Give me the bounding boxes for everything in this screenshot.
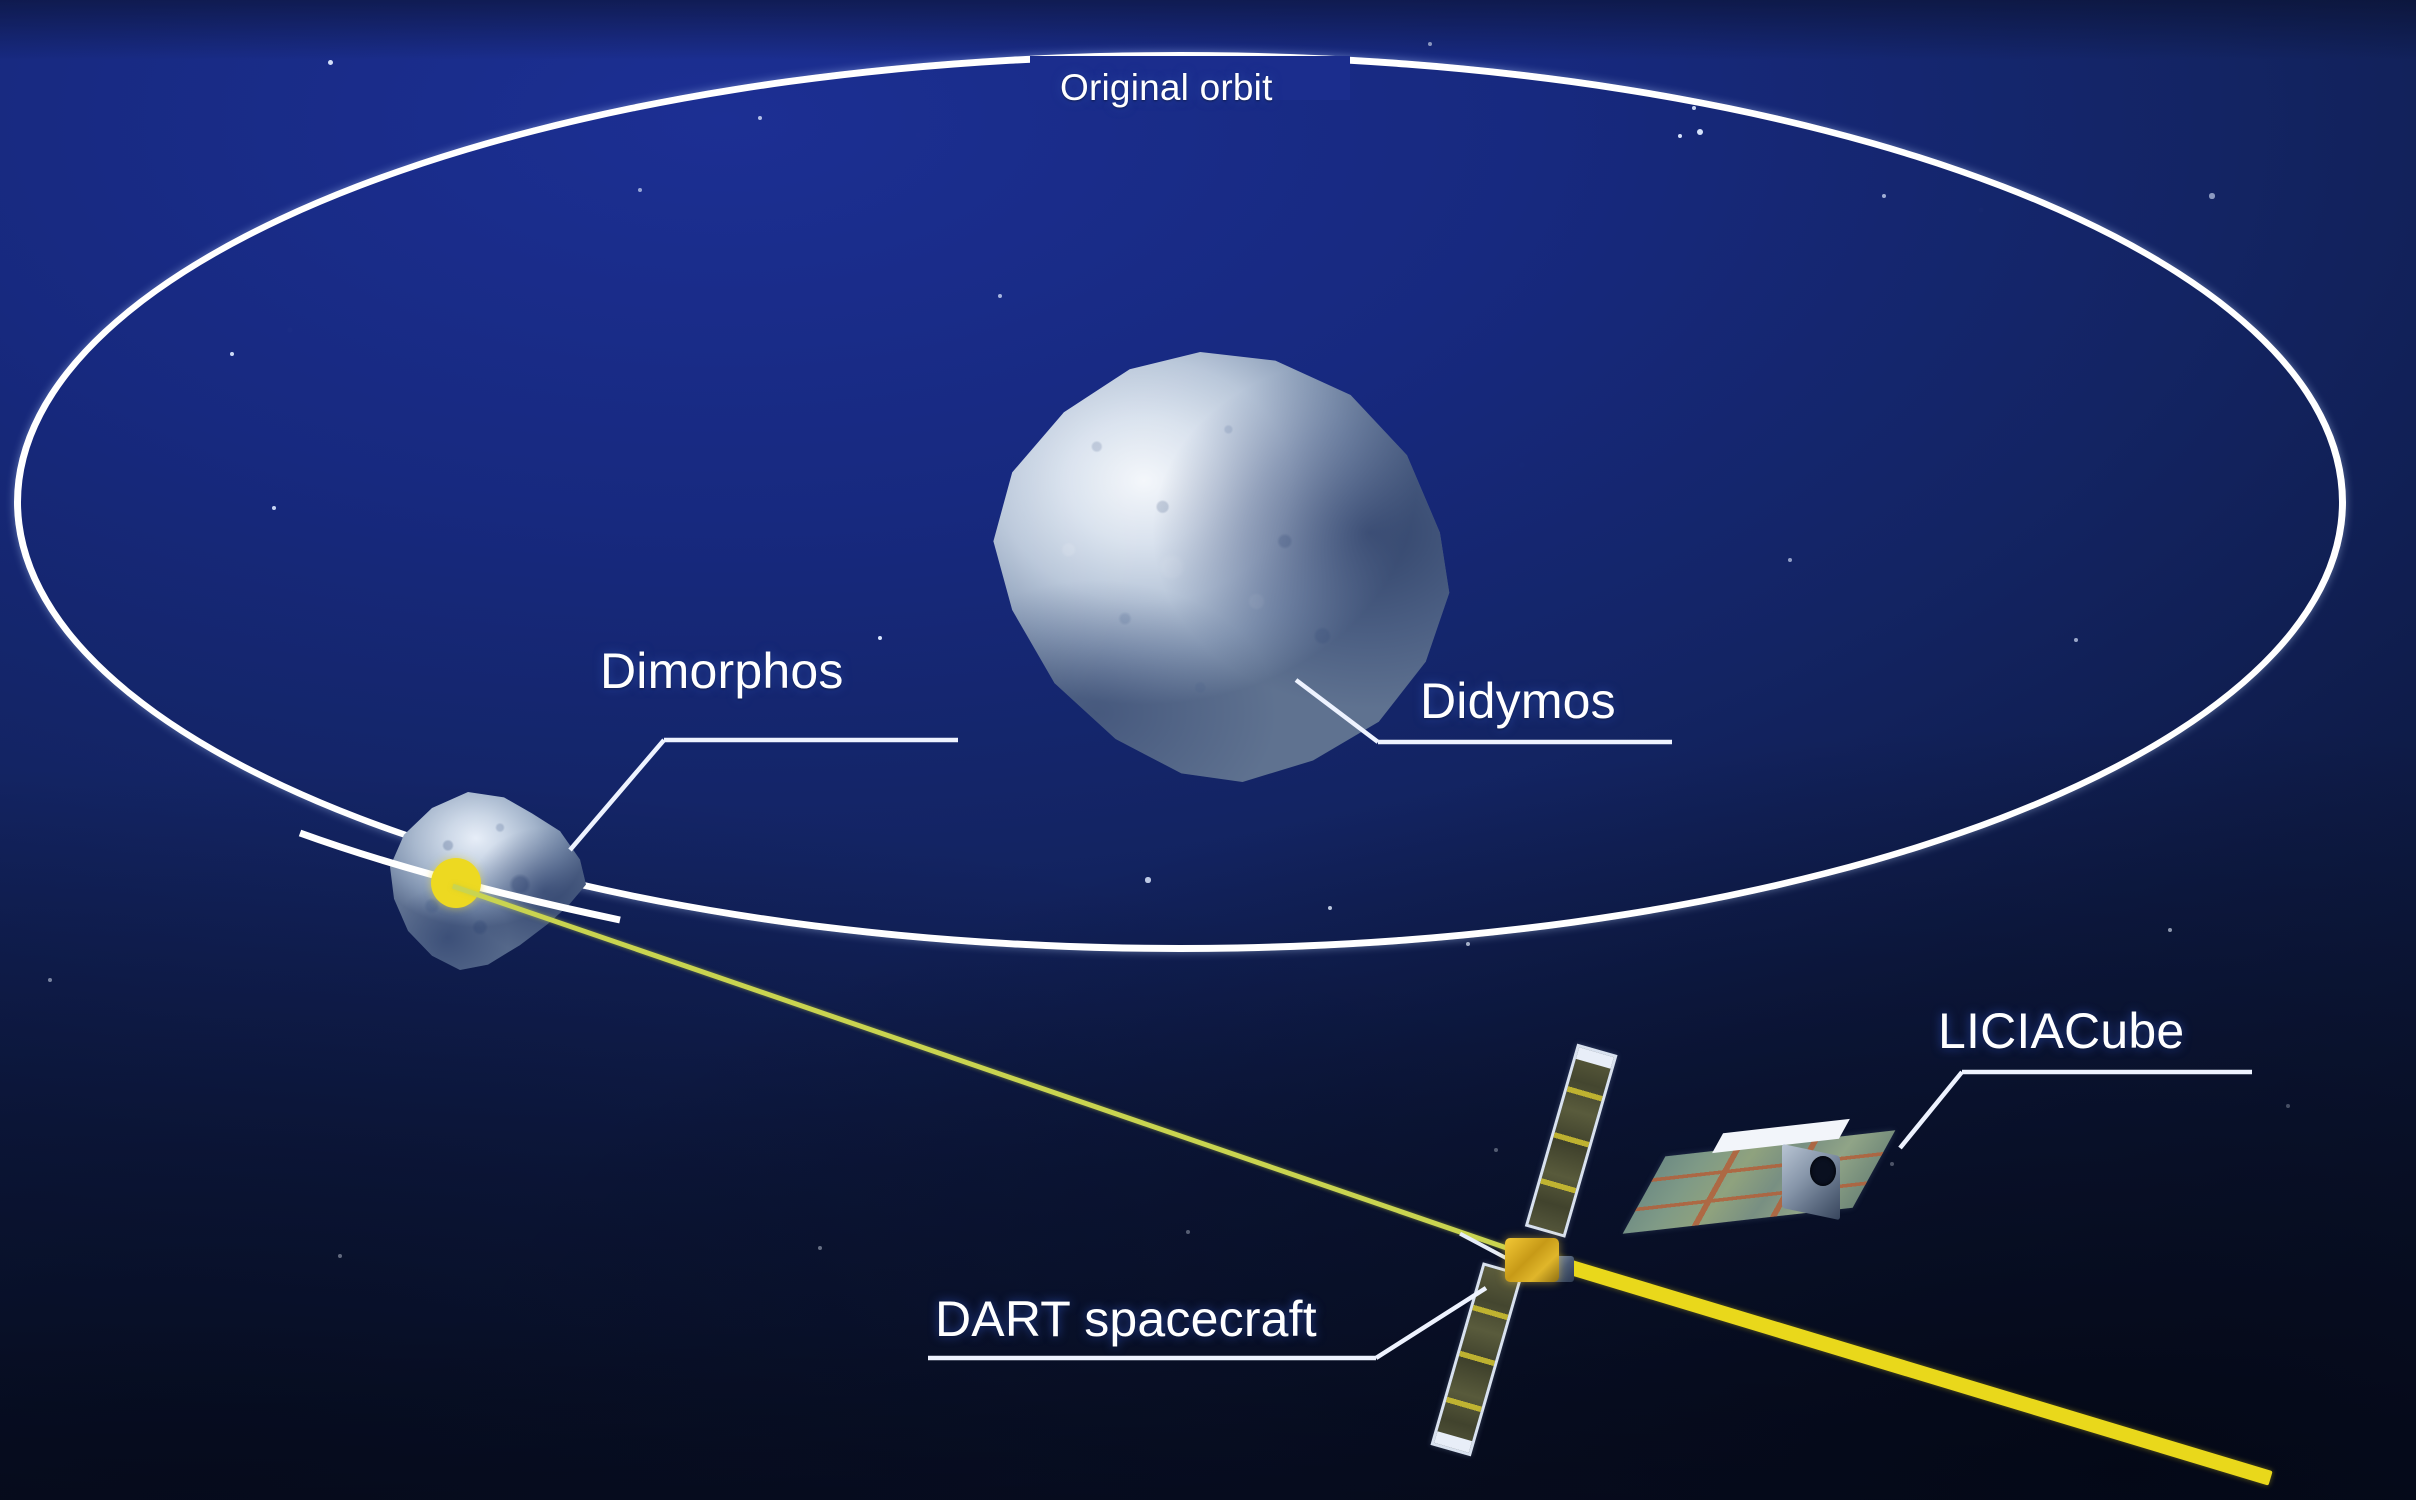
dimorphos-body [388, 792, 588, 970]
didymos-asteroid [984, 352, 1454, 782]
dart-solar-panel-lower [1430, 1262, 1523, 1456]
liciacube-camera-lens [1810, 1156, 1836, 1186]
liciacube-spacecraft [1660, 1108, 1920, 1258]
original-orbit-label: Original orbit [1060, 67, 1273, 109]
didymos-label: Didymos [1420, 672, 1616, 730]
dimorphos-label: Dimorphos [600, 642, 844, 700]
liciacube-label: LICIACube [1938, 1002, 2184, 1060]
dart-spacecraft-label: DART spacecraft [935, 1290, 1317, 1348]
dart-spacecraft [1420, 1050, 1630, 1470]
didymos-body [984, 352, 1454, 782]
didymos-shading [984, 352, 1454, 782]
dart-main-bus [1505, 1238, 1559, 1282]
dart-mission-diagram: Original orbit Dimorphos Didymos LICIACu… [0, 0, 2416, 1500]
dimorphos-asteroid [388, 792, 588, 970]
impact-point-marker [431, 858, 481, 908]
dart-solar-panel-upper [1525, 1044, 1618, 1238]
dimorphos-shading [388, 792, 588, 970]
